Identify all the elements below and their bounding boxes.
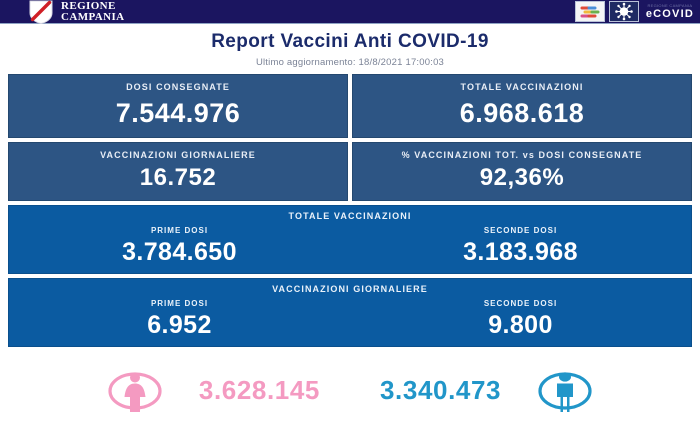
title-block: Report Vaccini Anti COVID-19 Ultimo aggi… <box>0 24 700 68</box>
band-totale-vaccinazioni: TOTALE VACCINAZIONI PRIME DOSI 3.784.650… <box>8 205 692 274</box>
band-title: VACCINAZIONI GIORNALIERE <box>9 284 691 294</box>
band-column-value: 3.784.650 <box>9 239 350 266</box>
band-column-value: 9.800 <box>350 312 691 339</box>
stat-card-grid: DOSI CONSEGNATE 7.544.976 TOTALE VACCINA… <box>8 74 692 201</box>
female-group: 3.628.145 <box>107 364 320 416</box>
band-column-label: PRIME DOSI <box>9 299 350 308</box>
band-columns: PRIME DOSI 6.952 SECONDE DOSI 9.800 <box>9 294 691 339</box>
stat-card-label: DOSI CONSEGNATE <box>13 82 343 92</box>
band-column-value: 3.183.968 <box>350 239 691 266</box>
coronavirus-icon <box>609 1 639 22</box>
band-title: TOTALE VACCINAZIONI <box>9 211 691 221</box>
band-column-seconde-dosi: SECONDE DOSI 3.183.968 <box>350 221 691 266</box>
ecovid-label: eCOVID <box>646 8 694 20</box>
region-brand-text: REGIONE CAMPANIA <box>61 1 125 22</box>
band-column-seconde-dosi: SECONDE DOSI 9.800 <box>350 294 691 339</box>
stat-card-vaccinazioni-giornaliere: VACCINAZIONI GIORNALIERE 16.752 <box>8 142 348 201</box>
band-column-value: 6.952 <box>9 312 350 339</box>
page-title: Report Vaccini Anti COVID-19 <box>0 31 700 53</box>
stat-card-value: 7.544.976 <box>13 99 343 128</box>
region-brand: REGIONE CAMPANIA <box>28 0 125 24</box>
stat-card-percentuale-vaccinazioni: % VACCINAZIONI TOT. vs DOSI CONSEGNATE 9… <box>352 142 692 201</box>
female-figure-icon <box>107 364 163 416</box>
stat-card-label: TOTALE VACCINAZIONI <box>357 82 687 92</box>
stat-card-totale-vaccinazioni: TOTALE VACCINAZIONI 6.968.618 <box>352 74 692 138</box>
stat-card-dosi-consegnate: DOSI CONSEGNATE 7.544.976 <box>8 74 348 138</box>
region-brand-line1: REGIONE <box>61 1 125 12</box>
female-vaccinated-count: 3.628.145 <box>199 375 320 406</box>
male-figure-icon <box>537 364 593 416</box>
stat-card-value: 92,36% <box>357 165 687 191</box>
male-group: 3.340.473 <box>380 364 593 416</box>
band-columns: PRIME DOSI 3.784.650 SECONDE DOSI 3.183.… <box>9 221 691 266</box>
region-brand-line2: CAMPANIA <box>61 12 125 23</box>
band-column-prime-dosi: PRIME DOSI 6.952 <box>9 294 350 339</box>
stat-card-value: 16.752 <box>13 165 343 191</box>
last-updated-text: Ultimo aggiornamento: 18/8/2021 17:00:03 <box>0 57 700 68</box>
vaccine-vials-icon <box>575 1 605 22</box>
top-header-bar: REGIONE CAMPANIA <box>0 0 700 24</box>
header-right-group: REGIONE CAMPANIA eCOVID <box>575 0 694 23</box>
stat-card-label: % VACCINAZIONI TOT. vs DOSI CONSEGNATE <box>357 150 687 160</box>
ecovid-logo: REGIONE CAMPANIA eCOVID <box>646 3 694 20</box>
male-vaccinated-count: 3.340.473 <box>380 375 501 406</box>
stat-card-value: 6.968.618 <box>357 99 687 128</box>
gender-summary-row: 3.628.145 3.340.473 <box>0 359 700 421</box>
band-column-prime-dosi: PRIME DOSI 3.784.650 <box>9 221 350 266</box>
stat-card-label: VACCINAZIONI GIORNALIERE <box>13 150 343 160</box>
band-vaccinazioni-giornaliere: VACCINAZIONI GIORNALIERE PRIME DOSI 6.95… <box>8 278 692 347</box>
band-column-label: SECONDE DOSI <box>350 299 691 308</box>
campania-shield-icon <box>28 0 54 24</box>
band-column-label: SECONDE DOSI <box>350 226 691 235</box>
band-column-label: PRIME DOSI <box>9 226 350 235</box>
